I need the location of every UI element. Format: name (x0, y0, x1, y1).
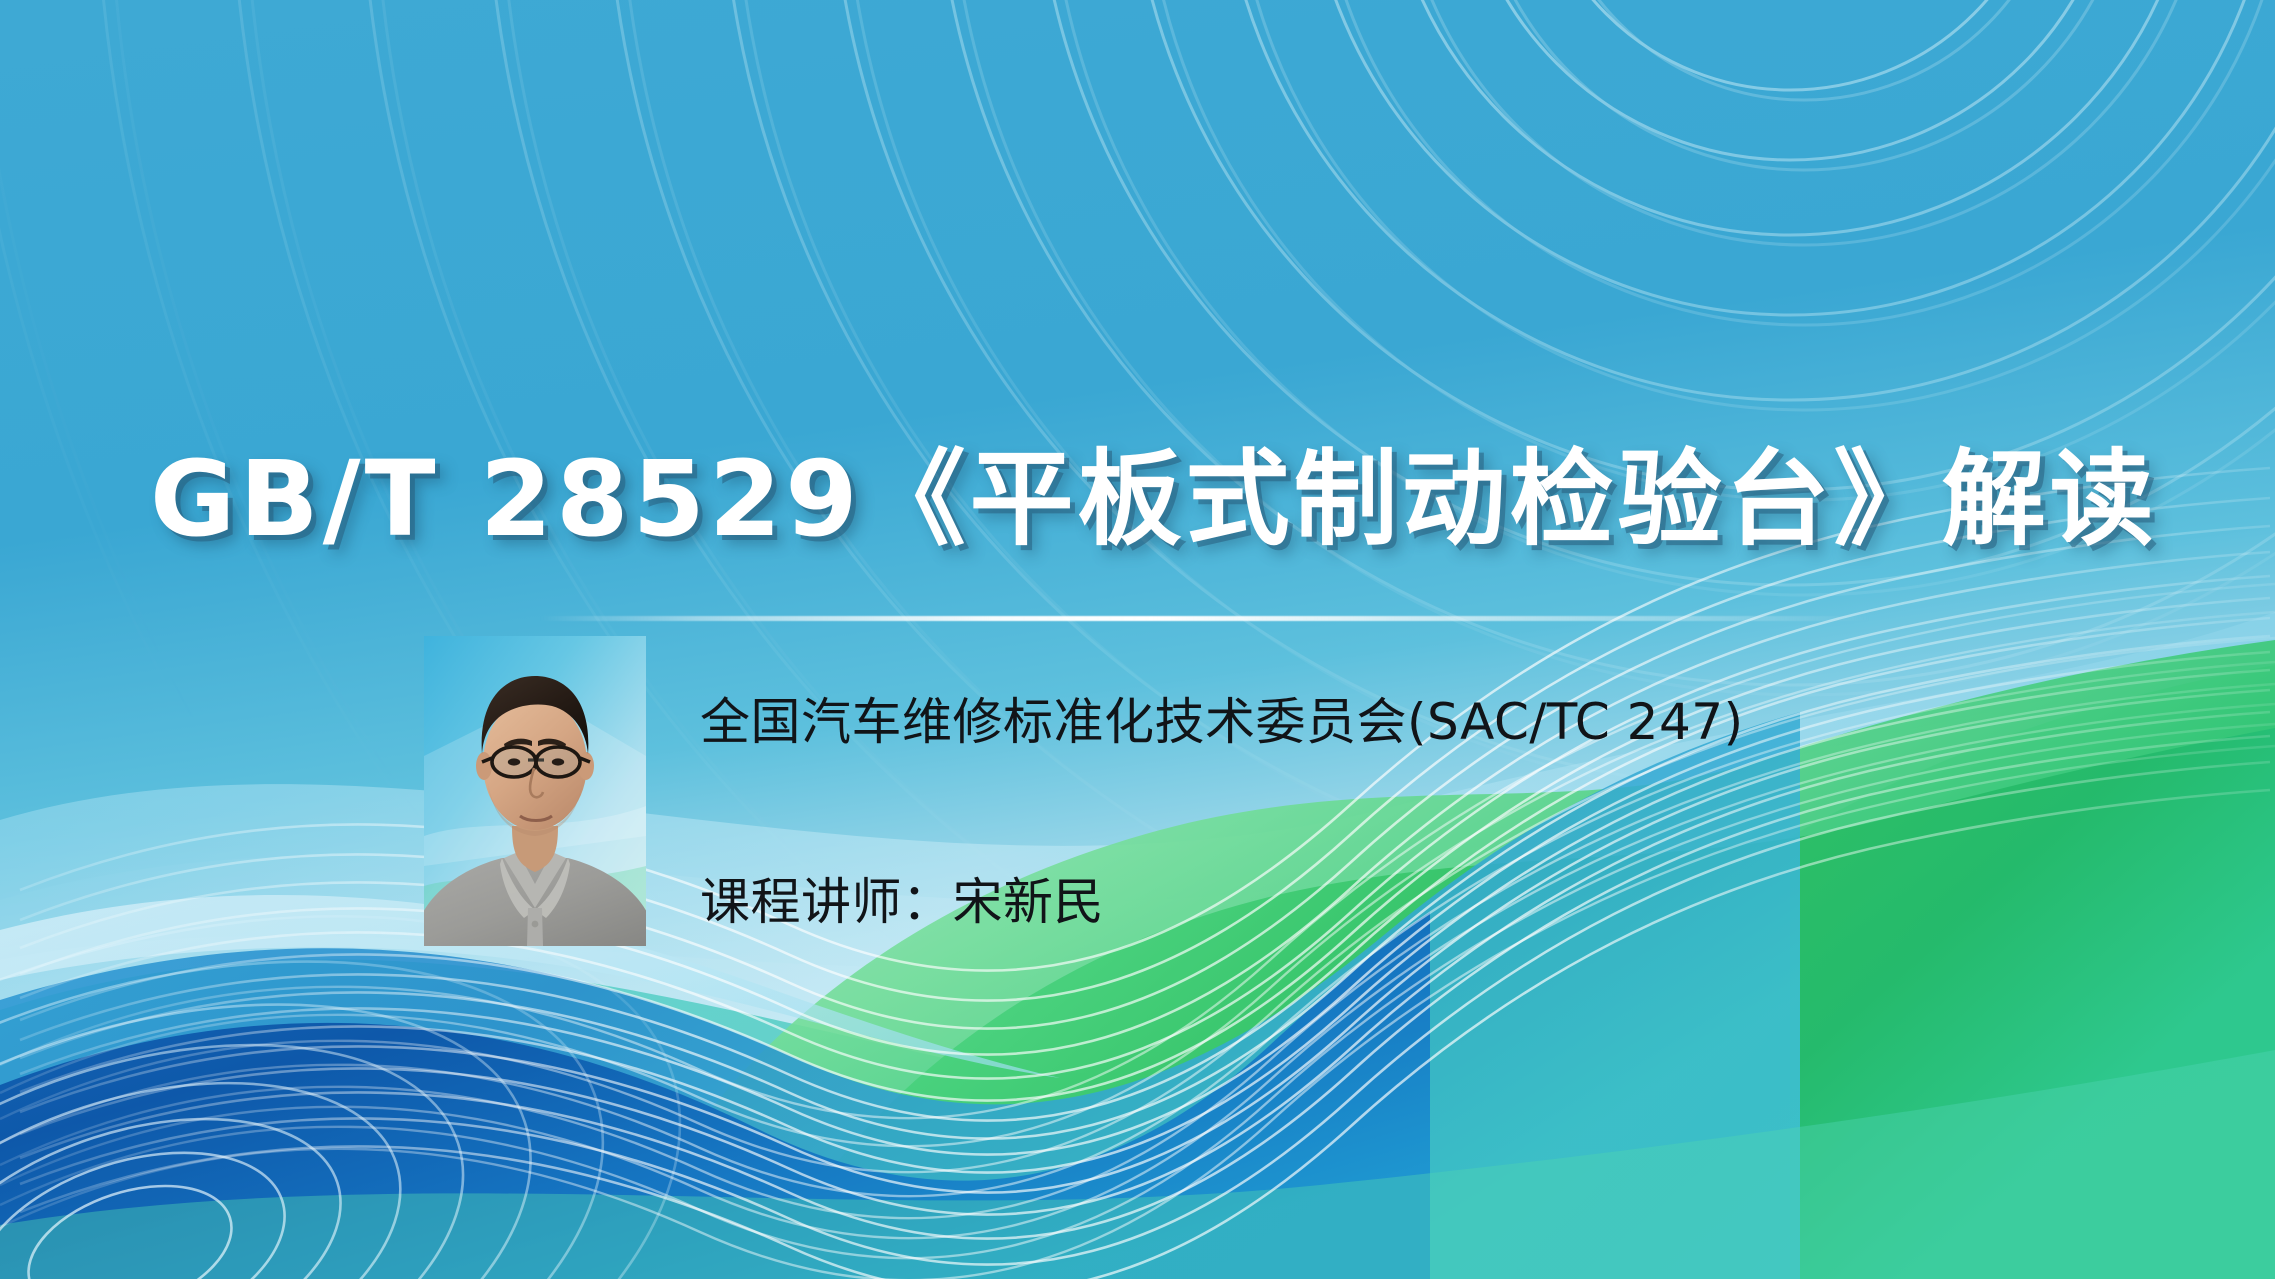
page-title: GB/T 28529《平板式制动检验台》解读 (150, 440, 2150, 560)
presentation-slide: GB/T 28529《平板式制动检验台》解读 (0, 0, 2275, 1279)
lecturer-label: 课程讲师：宋新民 (700, 862, 1104, 934)
slide-content: GB/T 28529《平板式制动检验台》解读 (0, 0, 2275, 1279)
avatar (424, 636, 646, 946)
organization-label: 全国汽车维修标准化技术委员会(SAC/TC 247) (700, 682, 1744, 754)
title-underline-divider (540, 616, 1870, 621)
lecturer-portrait-photo (424, 636, 646, 946)
